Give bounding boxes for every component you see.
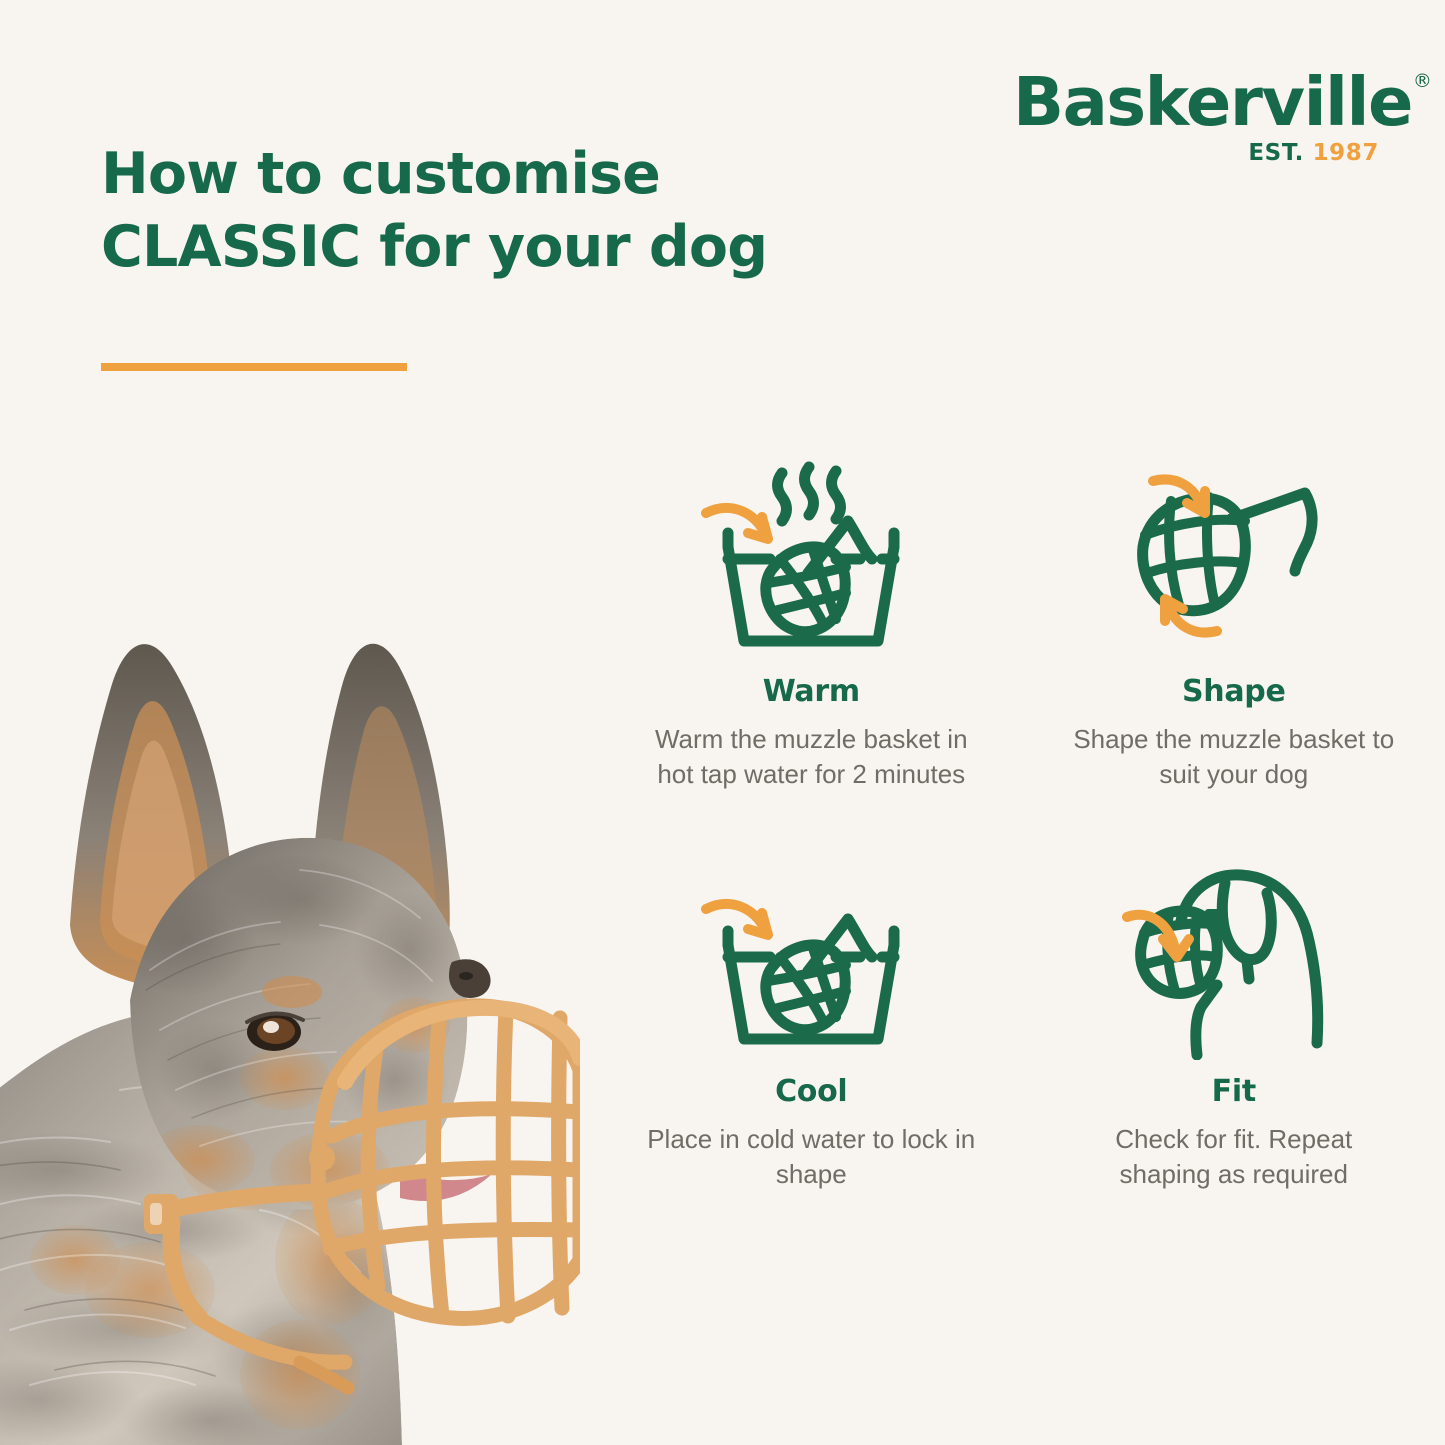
- steps-grid: Warm Warm the muzzle basket in hot tap w…: [600, 455, 1445, 1275]
- fit-dog-head-icon: [1119, 865, 1349, 1060]
- brand-est-year: 1987: [1313, 140, 1379, 166]
- step-description: Place in cold water to lock in shape: [646, 1122, 976, 1191]
- poster-canvas: Baskerville® EST. 1987 How to customise …: [0, 0, 1445, 1445]
- brand-wordmark-text: Baskerville: [1013, 63, 1412, 141]
- step-cool: Cool Place in cold water to lock in shap…: [600, 865, 1023, 1275]
- accent-divider: [101, 363, 407, 371]
- step-description: Warm the muzzle basket in hot tap water …: [646, 722, 976, 791]
- page-title-line-2: CLASSIC for your dog: [101, 211, 891, 284]
- dog-photo-illustration: [0, 470, 580, 1445]
- step-fit: Fit Check for fit. Repeat shaping as req…: [1023, 865, 1445, 1275]
- cool-basin-icon: [696, 865, 926, 1060]
- warm-basin-icon: [696, 455, 926, 660]
- shape-muzzle-icon: [1119, 455, 1349, 660]
- page-title: How to customise CLASSIC for your dog: [101, 138, 891, 284]
- step-description: Shape the muzzle basket to suit your dog: [1069, 722, 1399, 791]
- dog-photo: [0, 470, 580, 1445]
- registered-trademark-icon: ®: [1413, 72, 1432, 91]
- step-title: Cool: [775, 1074, 847, 1109]
- brand-est-label: EST.: [1248, 140, 1304, 166]
- step-shape: Shape Shape the muzzle basket to suit yo…: [1023, 455, 1445, 865]
- brand-established: EST. 1987: [1013, 142, 1385, 165]
- step-title: Shape: [1182, 674, 1286, 709]
- step-description: Check for fit. Repeat shaping as require…: [1069, 1122, 1399, 1191]
- brand-logo: Baskerville® EST. 1987: [1013, 68, 1385, 165]
- brand-wordmark: Baskerville®: [1013, 68, 1412, 136]
- step-title: Fit: [1212, 1074, 1256, 1109]
- step-warm: Warm Warm the muzzle basket in hot tap w…: [600, 455, 1023, 865]
- page-title-line-1: How to customise: [101, 138, 891, 211]
- step-title: Warm: [763, 674, 860, 709]
